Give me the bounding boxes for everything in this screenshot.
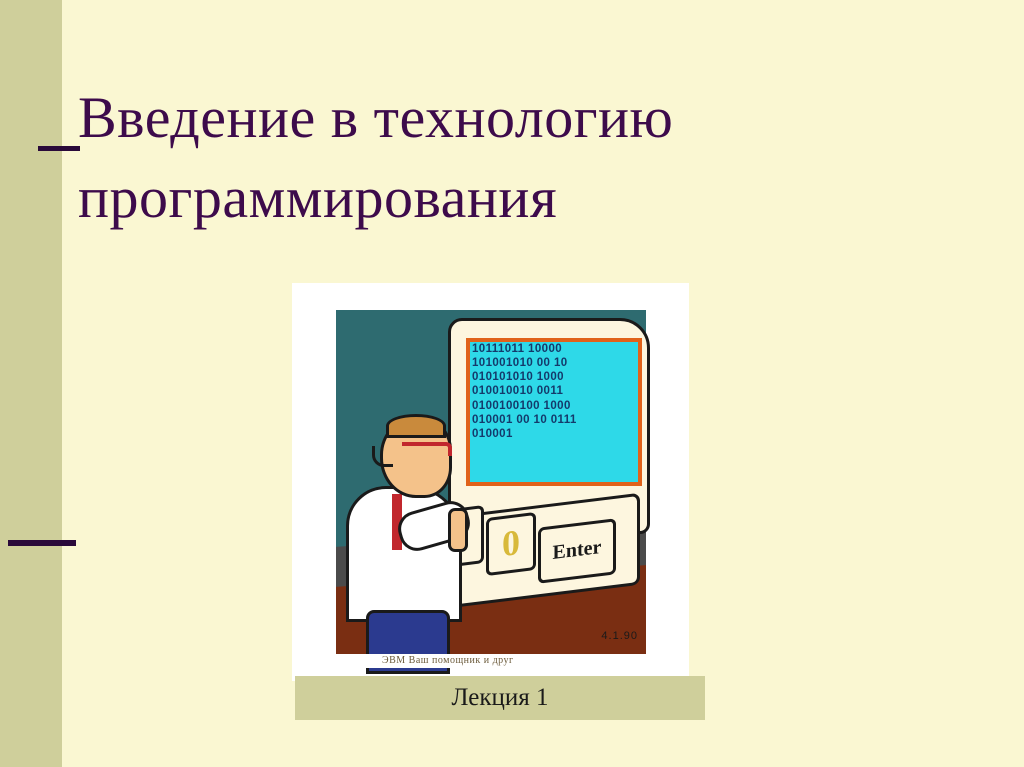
glasses-icon [402, 442, 452, 456]
screen-line: 101001010 00 10 [472, 356, 634, 370]
screen-line: 0100100100 1000 [472, 399, 634, 413]
person-finger [448, 508, 468, 552]
page-title: Введение в технологию программирования [78, 78, 978, 238]
title-line-2: программирования [78, 158, 978, 238]
subtitle-bar: Лекция 1 [295, 676, 705, 720]
person-nose [372, 446, 393, 467]
key-enter: Enter [538, 518, 616, 584]
slide: Введение в технологию программирования 1… [0, 0, 1024, 767]
screen-binary-text: 10111011 10000 101001010 00 10 010101010… [472, 342, 634, 441]
title-line-1: Введение в технологию [78, 78, 978, 158]
key-zero: 0 [486, 512, 536, 576]
screen-line: 010010010 0011 [472, 384, 634, 398]
illustration-frame: 10111011 10000 101001010 00 10 010101010… [292, 283, 689, 681]
screen-line: 10111011 10000 [472, 342, 634, 356]
screen-line: 010001 [472, 427, 634, 441]
subtitle-text: Лекция 1 [451, 684, 548, 712]
band-notch-top [38, 146, 80, 151]
artist-signature: 4.1.90 [601, 630, 638, 642]
illustration: 10111011 10000 101001010 00 10 010101010… [336, 310, 646, 668]
left-decorative-band [0, 0, 62, 767]
screen-line: 010101010 1000 [472, 370, 634, 384]
band-notch-bottom [8, 540, 76, 546]
illustration-credit: ЭВМ Ваш помощник и друг [382, 655, 514, 666]
screen-line: 010001 00 10 0111 [472, 413, 634, 427]
person-hair [386, 414, 446, 438]
